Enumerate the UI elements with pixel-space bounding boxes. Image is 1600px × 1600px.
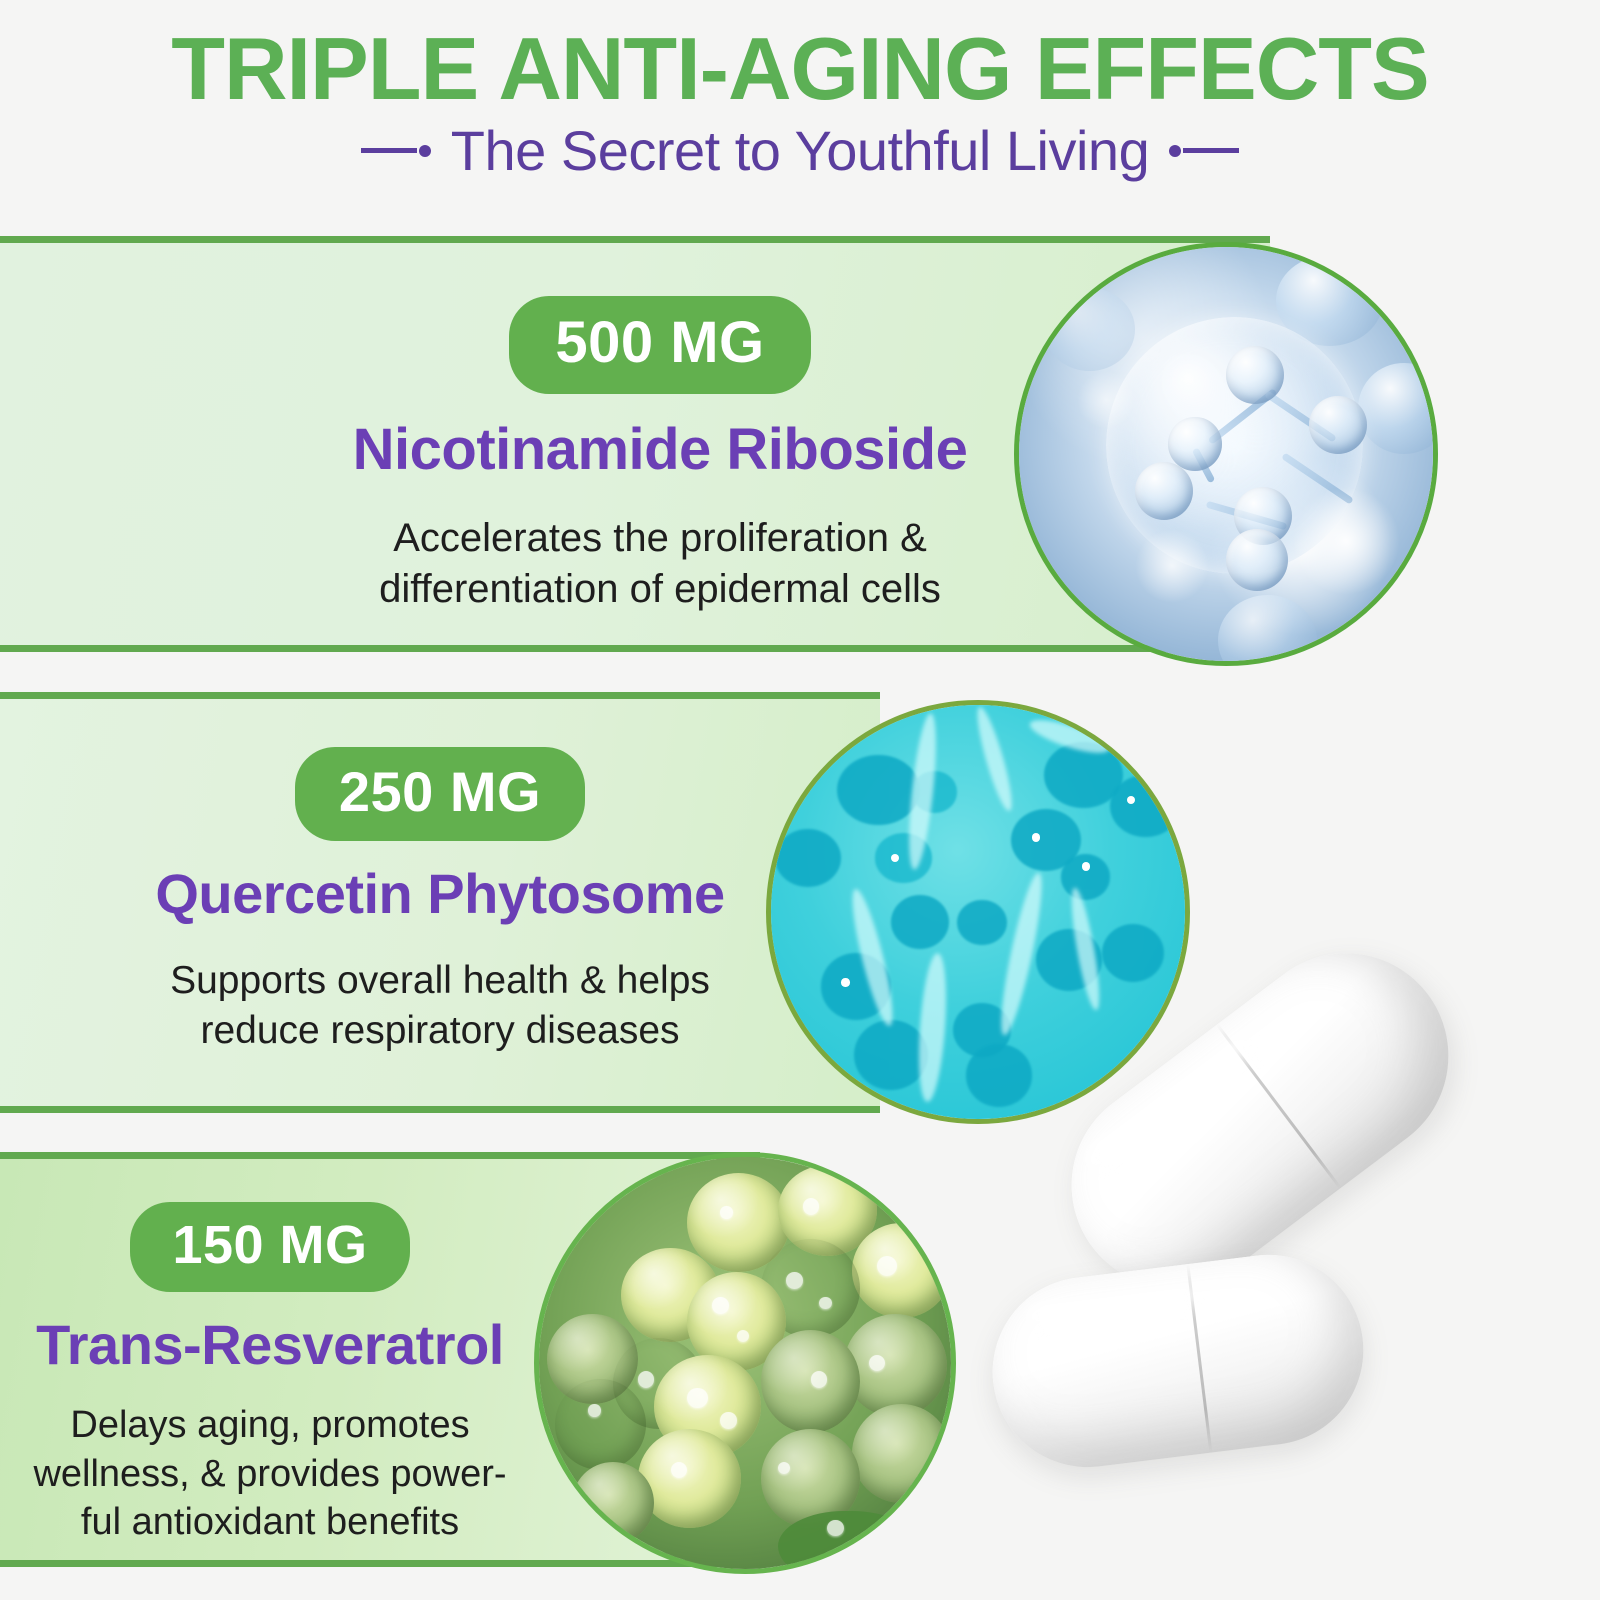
ingredient-description-1: Accelerates the proliferation & differen… <box>330 513 990 615</box>
molecule-circle-image <box>1014 242 1438 666</box>
right-rule-decoration <box>1169 145 1239 157</box>
dose-badge-2: 250 MG <box>295 747 585 841</box>
page-subtitle: The Secret to Youthful Living <box>451 118 1149 183</box>
green-grapes-circle-image <box>534 1152 956 1574</box>
ingredient-description-3: Delays aging, promotes wellness, & provi… <box>10 1401 530 1547</box>
grapes-illustration <box>539 1157 951 1569</box>
ingredient-name-1: Nicotinamide Riboside <box>330 416 990 483</box>
subtitle-row: The Secret to Youthful Living <box>0 118 1600 183</box>
molecule-illustration <box>1019 247 1433 661</box>
panel-3-content: 150 MG Trans-Resveratrol Delays aging, p… <box>10 1202 530 1547</box>
ingredient-description-2: Supports overall health & helps reduce r… <box>120 956 760 1056</box>
ingredient-name-3: Trans-Resveratrol <box>10 1312 530 1377</box>
left-rule-decoration <box>361 145 431 157</box>
panel-2-content: 250 MG Quercetin Phytosome Supports over… <box>120 747 760 1056</box>
panel-1-content: 500 MG Nicotinamide Riboside Accelerates… <box>330 296 990 615</box>
capsule-lower <box>982 1244 1374 1478</box>
page-title: TRIPLE ANTI-AGING EFFECTS <box>0 18 1600 120</box>
dose-badge-1: 500 MG <box>509 296 810 394</box>
header: TRIPLE ANTI-AGING EFFECTS The Secret to … <box>0 0 1600 210</box>
white-capsules-photo <box>980 1000 1600 1540</box>
dose-badge-3: 150 MG <box>130 1202 409 1292</box>
ingredient-name-2: Quercetin Phytosome <box>120 861 760 926</box>
ingredient-panel-2: 250 MG Quercetin Phytosome Supports over… <box>0 692 880 1113</box>
